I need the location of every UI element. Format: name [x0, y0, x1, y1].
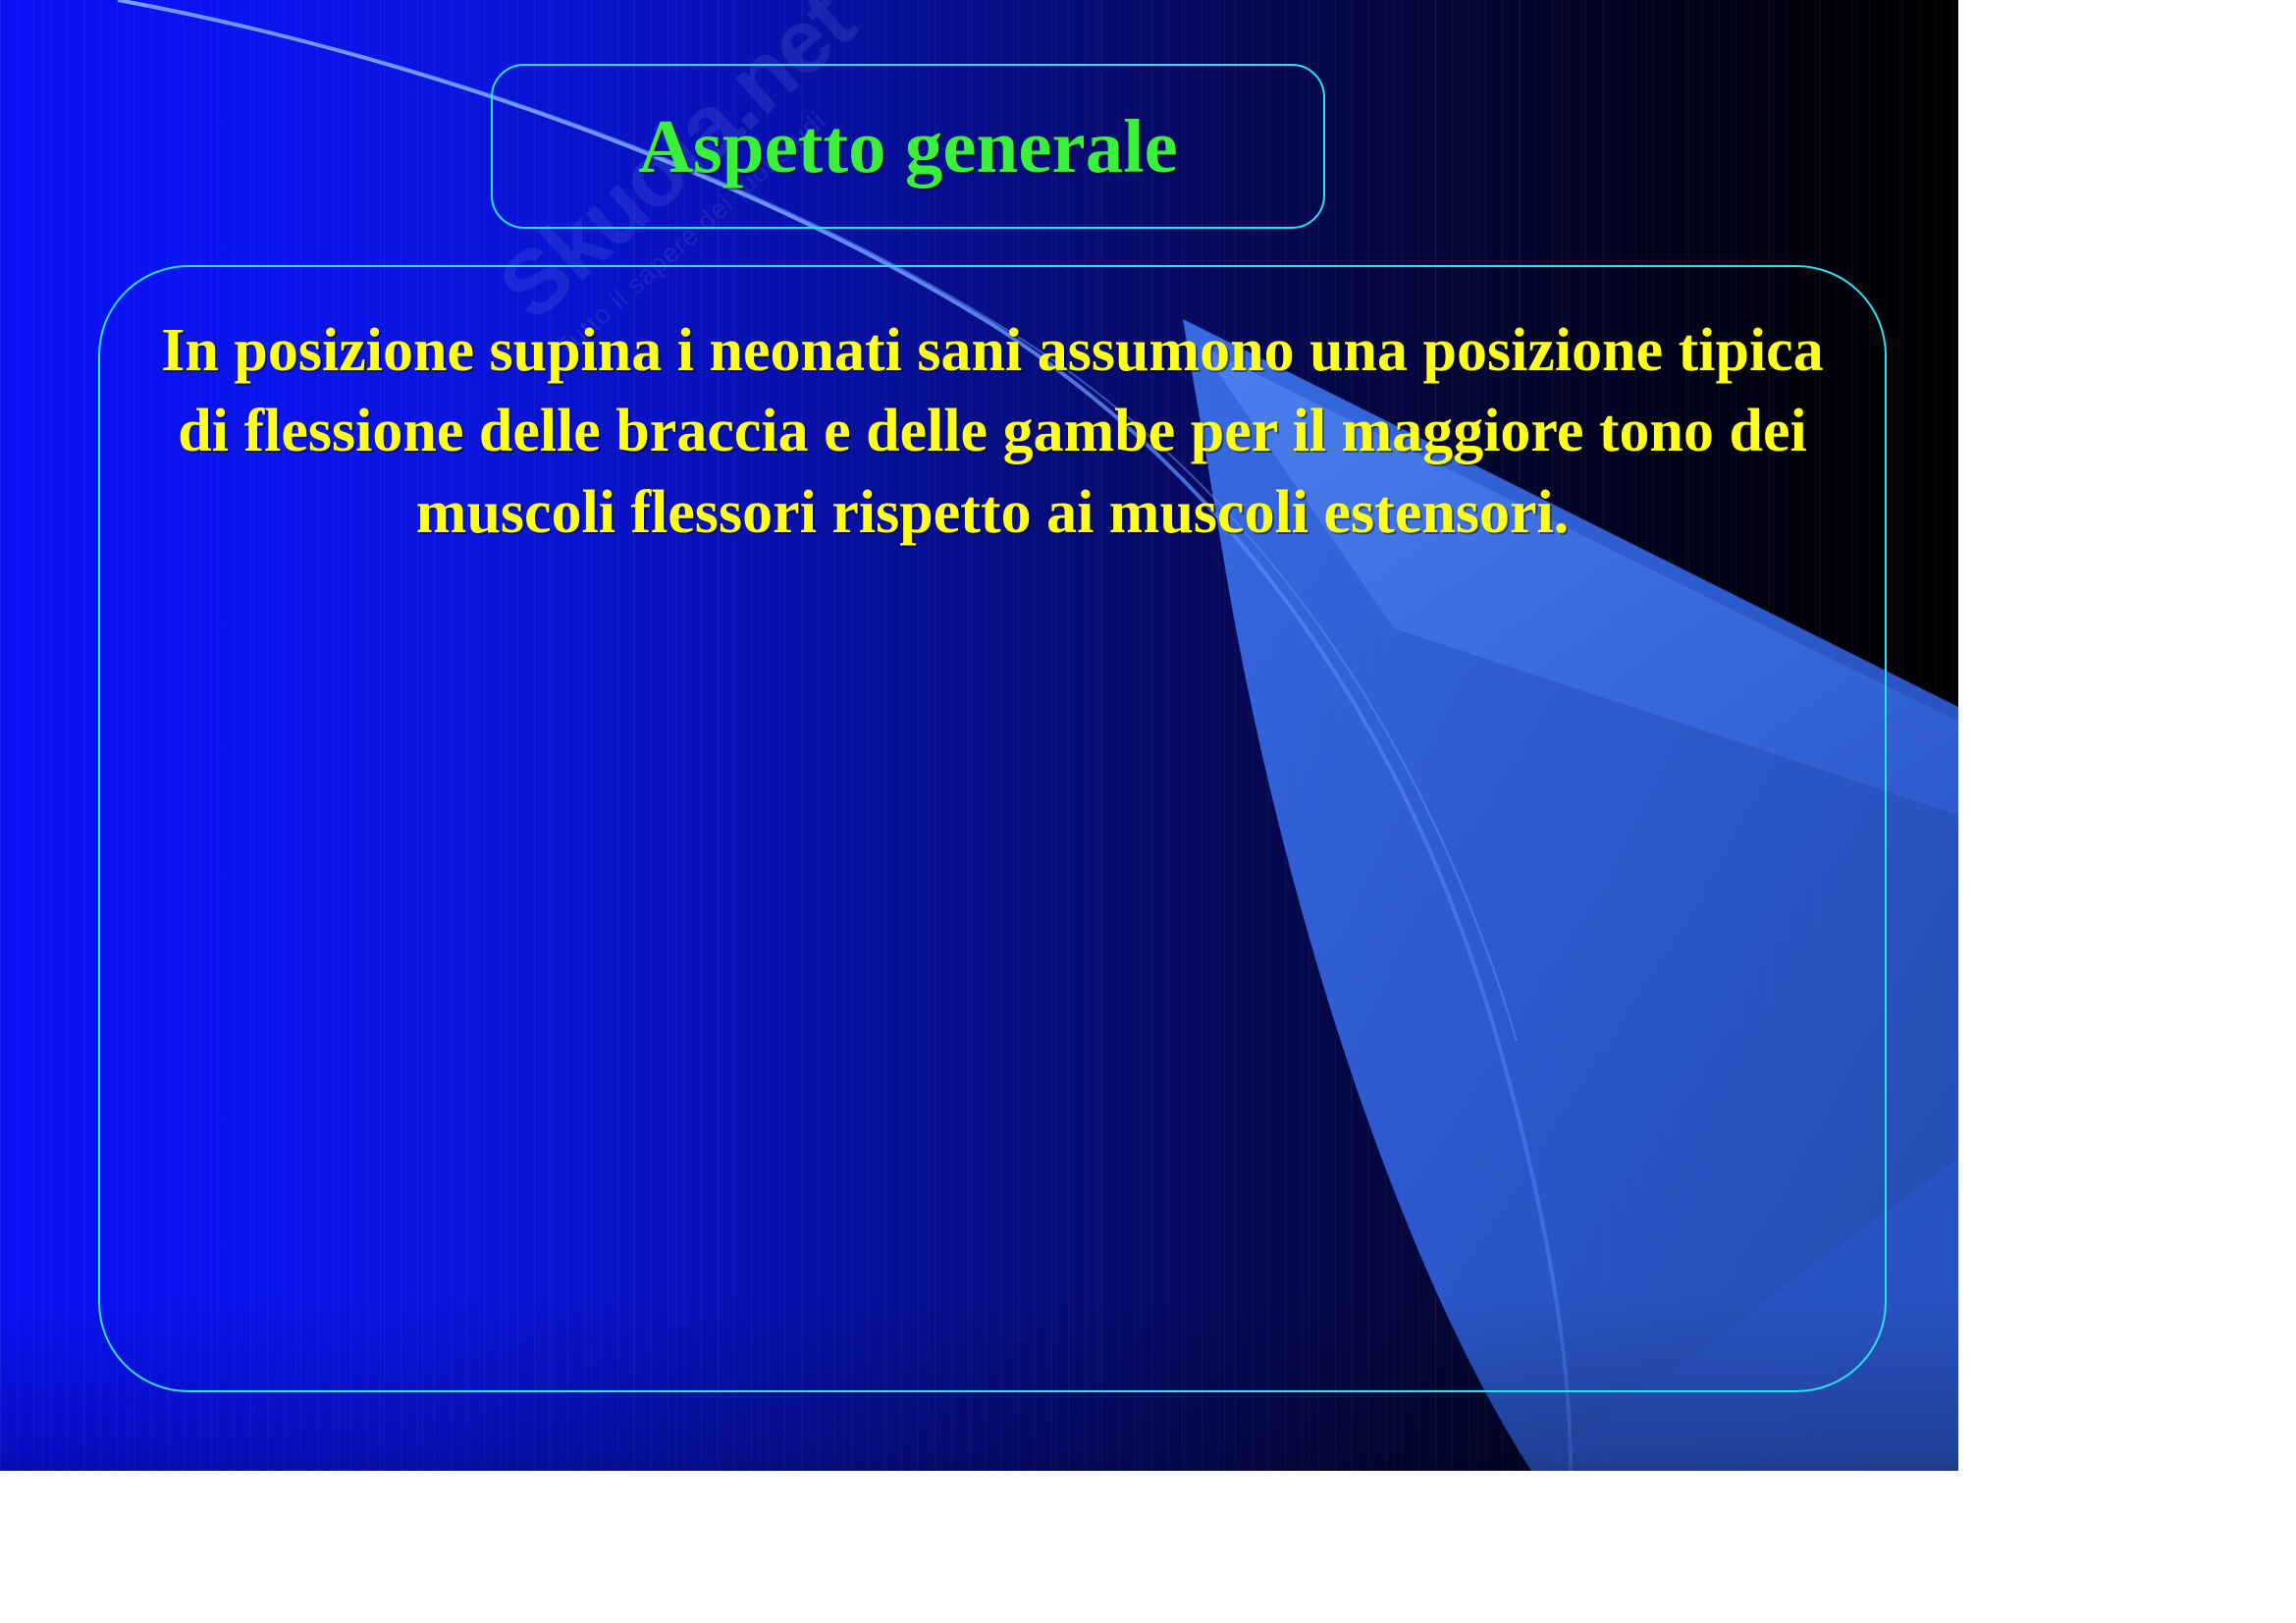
page-title: Aspetto generale	[638, 109, 1178, 185]
body-paragraph: In posizione supina i neonati sani assum…	[157, 310, 1828, 553]
content-placeholder-box: In posizione supina i neonati sani assum…	[98, 265, 1887, 1392]
presentation-slide: Skuola.net Tutto il sapere dei tuoi stud…	[0, 0, 1958, 1471]
title-placeholder-box: Aspetto generale	[491, 64, 1325, 229]
